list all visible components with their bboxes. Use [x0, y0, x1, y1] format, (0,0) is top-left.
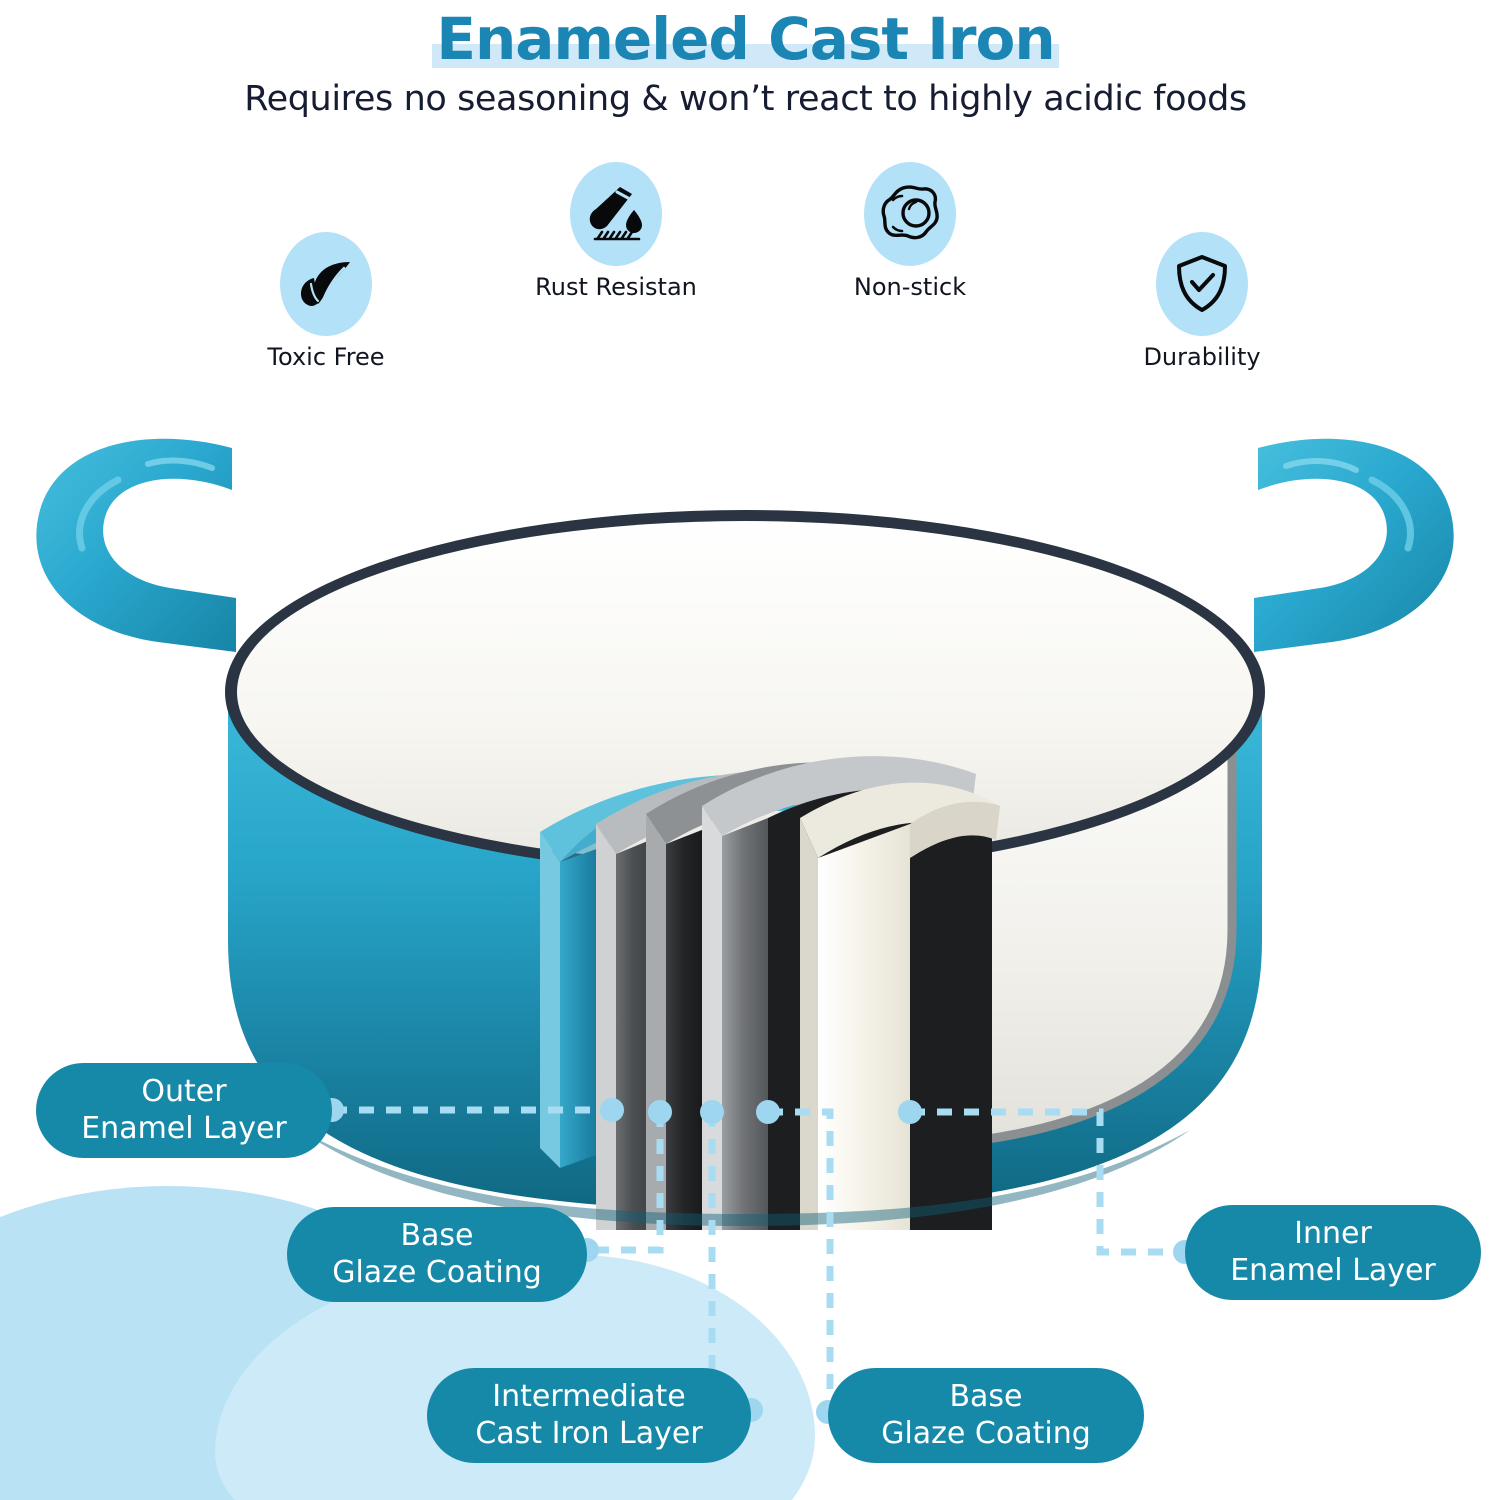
product-infographic: Enameled Cast Iron Requires no seasoning… — [0, 0, 1491, 1500]
fried-egg-icon — [864, 162, 956, 266]
pot-handle-right — [1254, 439, 1454, 652]
feature-badge-durability: Durability — [1112, 232, 1292, 371]
callout-inner-enamel-layer[interactable]: Inner Enamel Layer — [1185, 1205, 1481, 1300]
page-subtitle: Requires no seasoning & won’t react to h… — [0, 79, 1491, 119]
shield-check-icon — [1156, 232, 1248, 336]
title-wrapper: Enameled Cast Iron — [426, 6, 1064, 73]
feature-badge-row: Toxic Free — [0, 170, 1491, 400]
leaf-icon — [280, 232, 372, 336]
feature-badge-toxic-free: Toxic Free — [236, 232, 416, 371]
feature-badge-rust-resistan: Rust Resistan — [526, 162, 706, 301]
feature-label: Rust Resistan — [526, 273, 706, 301]
feature-badge-non-stick: Non-stick — [820, 162, 1000, 301]
feature-label: Toxic Free — [236, 343, 416, 371]
header: Enameled Cast Iron Requires no seasoning… — [0, 0, 1491, 119]
feature-label: Durability — [1112, 343, 1292, 371]
page-title: Enameled Cast Iron — [426, 6, 1064, 73]
callout-base-glaze-coating-outer[interactable]: Base Glaze Coating — [287, 1207, 587, 1302]
callout-intermediate-cast-iron[interactable]: Intermediate Cast Iron Layer — [427, 1368, 751, 1463]
callout-base-glaze-coating-inner[interactable]: Base Glaze Coating — [828, 1368, 1144, 1463]
callout-outer-enamel-layer[interactable]: Outer Enamel Layer — [36, 1063, 332, 1158]
layer-cross-section — [540, 756, 1000, 1230]
pot-handle-left — [36, 439, 236, 652]
water-drop-icon — [570, 162, 662, 266]
feature-label: Non-stick — [820, 273, 1000, 301]
